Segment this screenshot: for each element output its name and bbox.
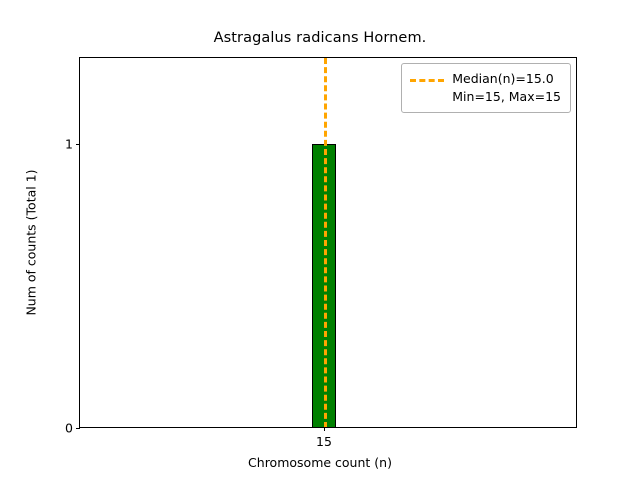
legend-label-median: Median(n)=15.0 Min=15, Max=15 xyxy=(452,70,561,106)
legend-label-median-line2: Min=15, Max=15 xyxy=(452,88,561,106)
plot-area: 0 1 15 Median(n)=15.0 Min=15, Max=15 xyxy=(79,57,577,428)
median-line xyxy=(324,58,327,427)
y-tick-mark-0 xyxy=(76,428,80,429)
y-axis-label-text: Num of counts (Total 1) xyxy=(24,169,39,315)
legend: Median(n)=15.0 Min=15, Max=15 xyxy=(401,63,571,113)
legend-swatch-median-line xyxy=(410,79,444,82)
chart-title: Astragalus radicans Hornem. xyxy=(0,30,640,46)
legend-label-median-line1: Median(n)=15.0 xyxy=(452,70,561,88)
y-tick-label-0: 0 xyxy=(65,420,73,435)
x-tick-mark-15 xyxy=(324,427,325,431)
chart-figure: Astragalus radicans Hornem. Num of count… xyxy=(0,0,640,480)
x-tick-label-15: 15 xyxy=(316,434,332,449)
y-tick-label-1: 1 xyxy=(65,136,73,151)
x-axis-label: Chromosome count (n) xyxy=(0,455,640,470)
y-axis-label: Num of counts (Total 1) xyxy=(20,57,42,428)
plot-inner-clip xyxy=(80,58,576,427)
